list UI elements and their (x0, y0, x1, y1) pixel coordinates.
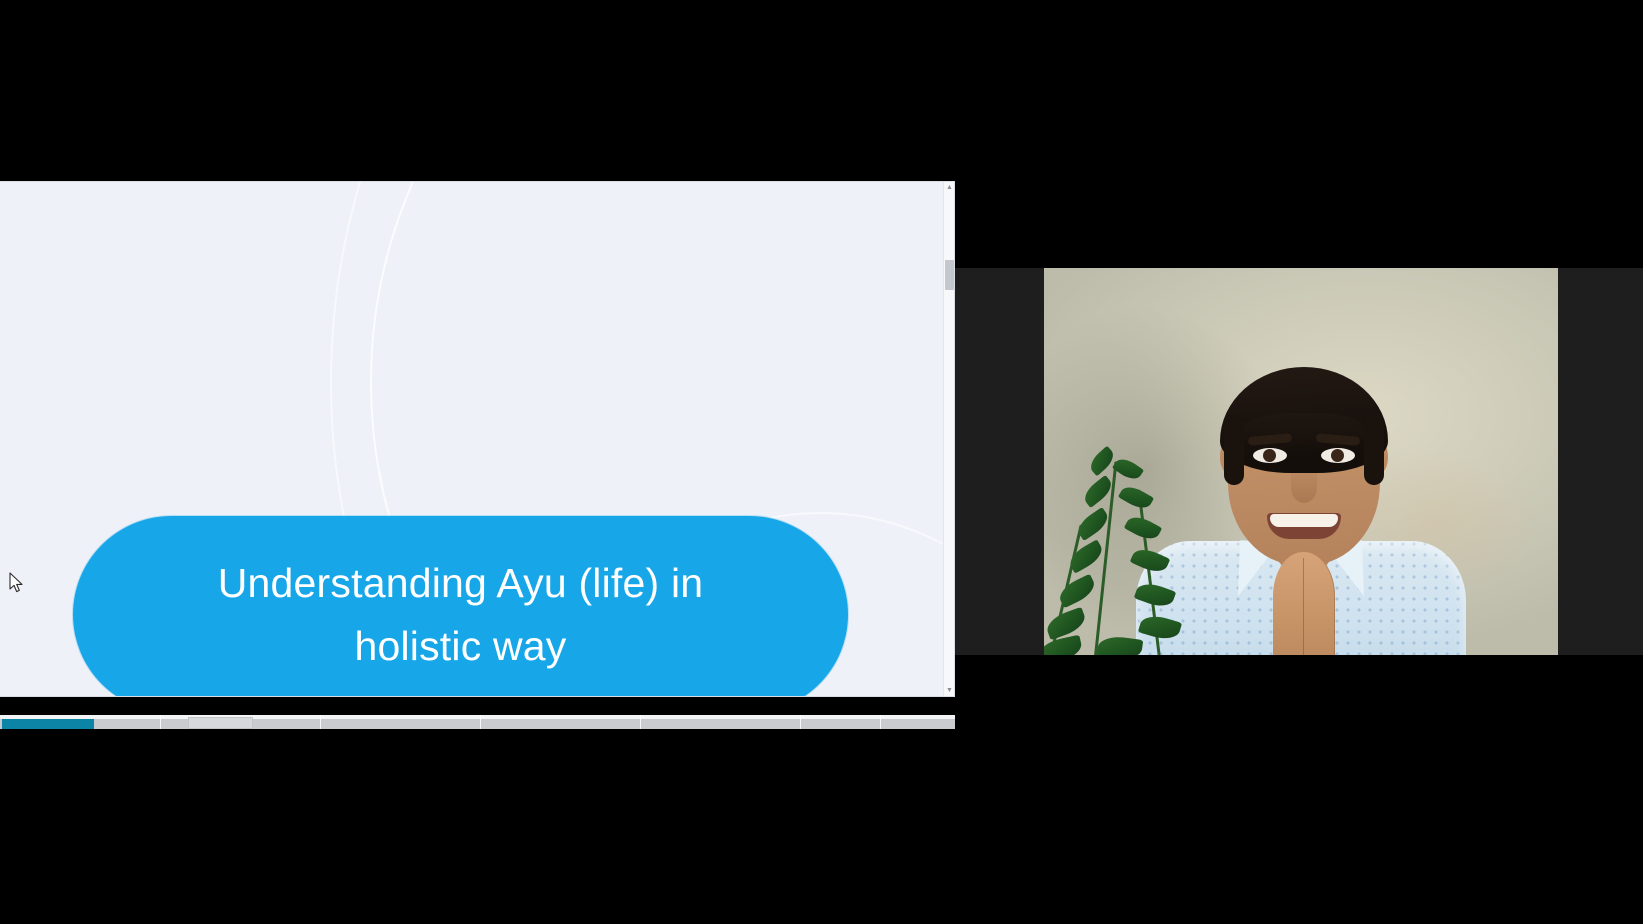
plant-leaf (1118, 482, 1154, 513)
plant-leaf (1134, 579, 1177, 611)
zz-plant (1044, 431, 1238, 655)
slide-title-pill: Understanding Ayu (life) in holistic way (73, 516, 848, 696)
scroll-up-arrow-icon[interactable]: ▲ (944, 182, 954, 193)
plant-leaf (1097, 634, 1144, 655)
plant-leaf (1138, 612, 1182, 643)
strip-tick (800, 715, 801, 729)
horizontal-scrollbar-track[interactable] (0, 719, 955, 729)
mouse-pointer-icon (9, 572, 25, 594)
slide-title-line-1: Understanding Ayu (life) in (218, 560, 704, 606)
plant-leaf (1044, 607, 1088, 640)
bottom-chrome-strip (0, 715, 955, 729)
strip-tick (480, 715, 481, 729)
sideburn-right (1364, 415, 1384, 485)
slide-canvas[interactable]: Understanding Ayu (life) in holistic way (0, 182, 943, 696)
slide-vertical-scrollbar[interactable]: ▲ ▼ (943, 182, 954, 696)
horizontal-scrollbar-thumb[interactable] (188, 717, 253, 729)
slide-title-text: Understanding Ayu (life) in holistic way (141, 552, 781, 677)
mouth (1267, 513, 1341, 539)
plant-leaf (1056, 574, 1099, 609)
namaste-hands (1273, 552, 1335, 655)
progress-indicator (2, 719, 94, 729)
participant-video-tile[interactable] (955, 268, 1643, 655)
shared-screen-inner: Understanding Ayu (life) in holistic way… (0, 182, 954, 696)
teeth (1270, 514, 1338, 527)
webcam-video-feed[interactable] (1044, 268, 1558, 655)
vertical-scrollbar-thumb[interactable] (945, 260, 954, 290)
plant-leaf (1066, 539, 1107, 573)
shared-screen-panel[interactable]: Understanding Ayu (life) in holistic way… (0, 181, 955, 697)
slide-title-line-2: holistic way (354, 623, 566, 669)
scroll-down-arrow-icon[interactable]: ▼ (944, 685, 954, 696)
strip-tick (160, 715, 161, 729)
plant-leaf (1112, 455, 1144, 484)
strip-tick (320, 715, 321, 729)
strip-tick (880, 715, 881, 729)
strip-tick (640, 715, 641, 729)
screen-root: Understanding Ayu (life) in holistic way… (0, 0, 1643, 924)
presenter-hair (1220, 367, 1388, 473)
nose (1291, 473, 1317, 503)
